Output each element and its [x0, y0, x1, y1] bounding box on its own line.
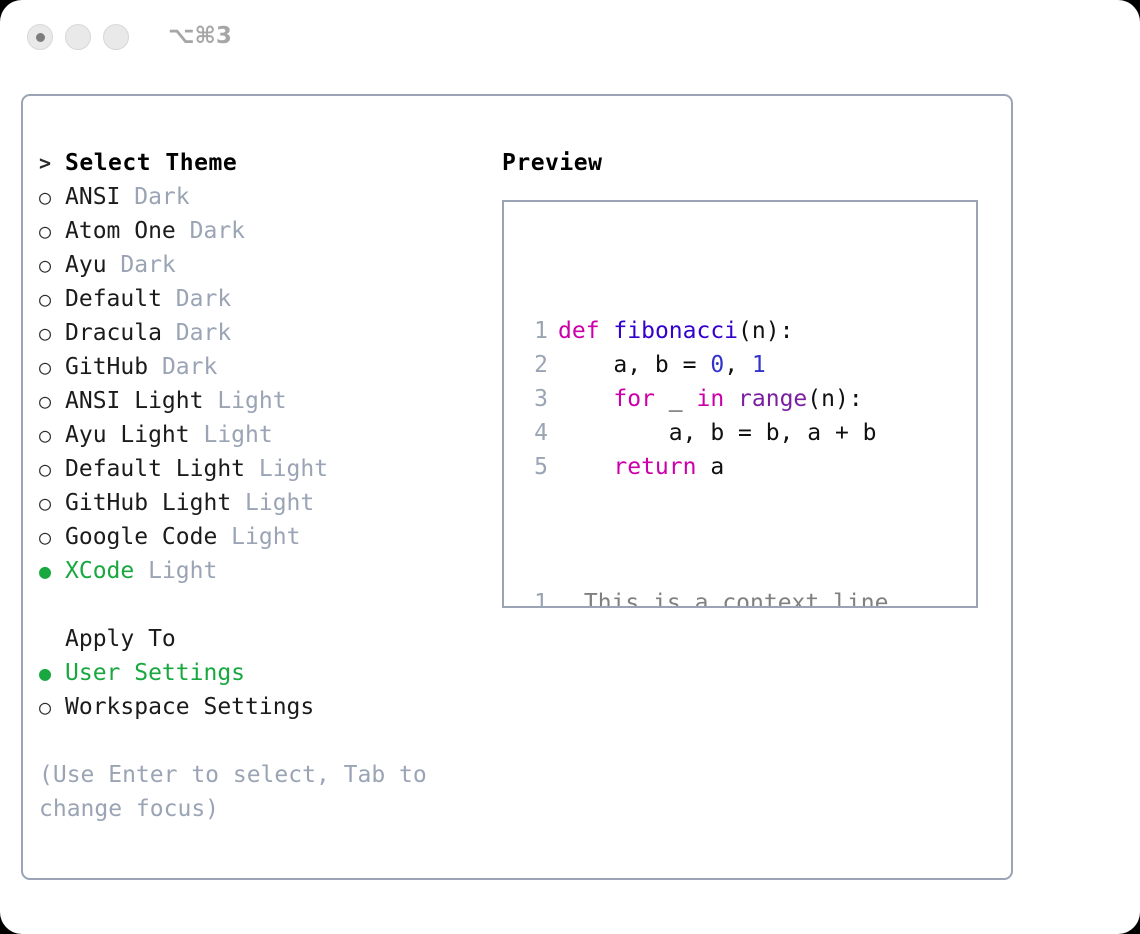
theme-list-item[interactable]: ○Ayu Dark: [39, 248, 489, 282]
code-token: def: [558, 318, 600, 344]
window-close-button[interactable]: [27, 24, 53, 50]
theme-kind-badge: Dark: [120, 184, 189, 210]
code-token: [558, 386, 613, 412]
theme-list-item[interactable]: ○Default Dark: [39, 282, 489, 316]
theme-list-item[interactable]: ○Ayu Light Light: [39, 418, 489, 452]
preview-box: 1def fibonacci(n):2 a, b = 0, 13 for _ i…: [502, 200, 978, 608]
theme-name: GitHub: [65, 354, 148, 380]
code-token: (n):: [807, 386, 862, 412]
radio-unselected-icon[interactable]: ○: [39, 452, 65, 486]
code-line-number: 5: [522, 450, 548, 484]
theme-list: ○ANSI Dark○Atom One Dark○Ayu Dark○Defaul…: [39, 180, 489, 588]
traffic-light-buttons: [27, 24, 129, 50]
code-line: 2 a, b = 0, 1: [522, 348, 902, 382]
keyboard-shortcut-label: ⌥⌘3: [168, 23, 232, 49]
code-line-number: 1: [522, 314, 548, 348]
diff-sample: 1 This is a context line.2- This line wa…: [522, 586, 902, 608]
section-spacer: [39, 588, 489, 622]
theme-kind-badge: Dark: [148, 354, 217, 380]
apply-to-label: Workspace Settings: [65, 694, 314, 720]
radio-unselected-icon[interactable]: ○: [39, 486, 65, 520]
code-token: in: [696, 386, 724, 412]
code-line-number: 3: [522, 382, 548, 416]
theme-name: Atom One: [65, 218, 176, 244]
code-token: ,: [724, 352, 752, 378]
theme-kind-badge: Light: [231, 490, 314, 516]
theme-name: ANSI: [65, 184, 120, 210]
theme-kind-badge: Dark: [162, 286, 231, 312]
code-line: 3 for _ in range(n):: [522, 382, 902, 416]
apply-to-option[interactable]: ●User Settings: [39, 656, 489, 690]
theme-name: ANSI Light: [65, 388, 203, 414]
radio-selected-icon[interactable]: ●: [39, 554, 65, 588]
apply-to-header: ○Apply To: [39, 622, 489, 656]
active-indicator-dot: [36, 33, 45, 42]
prompt-caret-icon: >: [39, 146, 65, 180]
code-line: 4 a, b = b, a + b: [522, 416, 902, 450]
preview-column: Preview 1def fibonacci(n):2 a, b = 0, 13…: [502, 146, 992, 608]
theme-kind-badge: Light: [203, 388, 286, 414]
radio-unselected-icon[interactable]: ○: [39, 214, 65, 248]
theme-kind-badge: Dark: [176, 218, 245, 244]
code-token: 1: [752, 352, 766, 378]
theme-list-item[interactable]: ○Default Light Light: [39, 452, 489, 486]
diff-text: This is a context line.: [570, 590, 902, 608]
radio-unselected-icon[interactable]: ○: [39, 248, 65, 282]
title-bar: ⌥⌘3: [0, 0, 1140, 78]
keyboard-hint: (Use Enter to select, Tab to change focu…: [39, 758, 459, 826]
theme-list-item[interactable]: ○ANSI Dark: [39, 180, 489, 214]
code-token: fibonacci: [613, 318, 738, 344]
theme-name: Default: [65, 286, 162, 312]
diff-line: 1 This is a context line.: [522, 586, 902, 608]
radio-unselected-icon[interactable]: ○: [39, 384, 65, 418]
code-token: (n):: [738, 318, 793, 344]
theme-list-item[interactable]: ○ANSI Light Light: [39, 384, 489, 418]
code-line: 1def fibonacci(n):: [522, 314, 902, 348]
theme-kind-badge: Dark: [162, 320, 231, 346]
code-sample: 1def fibonacci(n):2 a, b = 0, 13 for _ i…: [522, 314, 902, 484]
theme-name: Google Code: [65, 524, 217, 550]
radio-unselected-icon[interactable]: ○: [39, 180, 65, 214]
theme-list-item[interactable]: ○Dracula Dark: [39, 316, 489, 350]
theme-name: Dracula: [65, 320, 162, 346]
theme-kind-badge: Dark: [107, 252, 176, 278]
diff-line-number: 1: [522, 586, 548, 608]
radio-unselected-icon[interactable]: ○: [39, 316, 65, 350]
theme-kind-badge: Light: [134, 558, 217, 584]
theme-list-item[interactable]: ○Google Code Light: [39, 520, 489, 554]
apply-to-indent: ○: [39, 622, 65, 656]
code-token: [558, 454, 613, 480]
keyboard-hint-line-1: (Use Enter to select, Tab to: [39, 758, 459, 792]
radio-unselected-icon[interactable]: ○: [39, 690, 65, 724]
code-token: _: [655, 386, 697, 412]
theme-list-item[interactable]: ○Atom One Dark: [39, 214, 489, 248]
preview-code: 1def fibonacci(n):2 a, b = 0, 13 for _ i…: [522, 246, 902, 608]
theme-list-item[interactable]: ●XCode Light: [39, 554, 489, 588]
theme-name: Ayu Light: [65, 422, 190, 448]
code-line: 5 return a: [522, 450, 902, 484]
window-minimize-button[interactable]: [65, 24, 91, 50]
apply-to-list: ●User Settings○Workspace Settings: [39, 656, 489, 724]
diff-sign: [558, 586, 570, 608]
apply-to-option[interactable]: ○Workspace Settings: [39, 690, 489, 724]
main-panel: >Select Theme ○ANSI Dark○Atom One Dark○A…: [21, 94, 1013, 880]
preview-title: Preview: [502, 146, 992, 180]
code-token: a, b =: [558, 352, 710, 378]
theme-kind-badge: Light: [190, 422, 273, 448]
theme-picker-column: >Select Theme ○ANSI Dark○Atom One Dark○A…: [39, 146, 489, 826]
radio-unselected-icon[interactable]: ○: [39, 282, 65, 316]
theme-kind-badge: Light: [217, 524, 300, 550]
code-token: return: [613, 454, 696, 480]
code-token: a, b = b, a + b: [558, 420, 877, 446]
code-token: 0: [710, 352, 724, 378]
code-token: [724, 386, 738, 412]
code-token: range: [738, 386, 807, 412]
code-line-number: 2: [522, 348, 548, 382]
code-token: a: [696, 454, 724, 480]
theme-list-item[interactable]: ○GitHub Light Light: [39, 486, 489, 520]
window-maximize-button[interactable]: [103, 24, 129, 50]
radio-unselected-icon[interactable]: ○: [39, 418, 65, 452]
apply-to-title: Apply To: [65, 626, 176, 652]
theme-name: Default Light: [65, 456, 245, 482]
theme-name: GitHub Light: [65, 490, 231, 516]
theme-name: XCode: [65, 558, 134, 584]
code-token: for: [613, 386, 655, 412]
theme-list-item[interactable]: ○GitHub Dark: [39, 350, 489, 384]
theme-kind-badge: Light: [245, 456, 328, 482]
apply-to-label: User Settings: [65, 660, 245, 686]
code-line-number: 4: [522, 416, 548, 450]
app-window: ⌥⌘3 >Select Theme ○ANSI Dark○Atom One Da…: [0, 0, 1140, 934]
radio-unselected-icon[interactable]: ○: [39, 520, 65, 554]
radio-selected-icon[interactable]: ●: [39, 656, 65, 690]
select-theme-header: >Select Theme: [39, 146, 489, 180]
keyboard-hint-line-2: change focus): [39, 792, 459, 826]
code-token: [600, 318, 614, 344]
radio-unselected-icon[interactable]: ○: [39, 350, 65, 384]
theme-name: Ayu: [65, 252, 107, 278]
select-theme-title: Select Theme: [65, 150, 237, 176]
